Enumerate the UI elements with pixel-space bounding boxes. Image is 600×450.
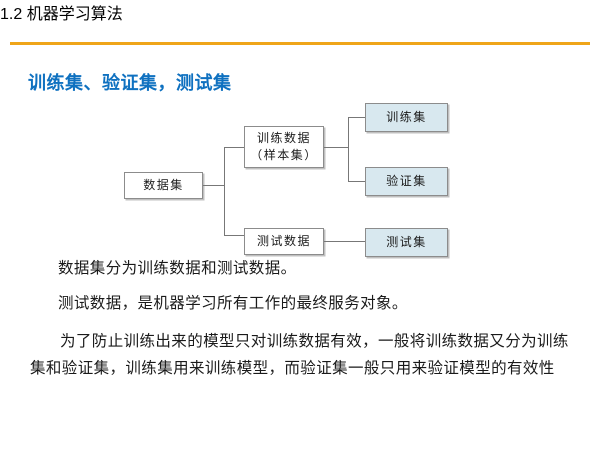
body-paragraph-3: 为了防止训练出来的模型只对训练数据有效，一般将训练数据又分为训练集和验证集，训练… <box>30 329 578 382</box>
node-test-data-label: 测试数据 <box>257 233 311 250</box>
node-test-set-label: 测试集 <box>386 234 427 251</box>
connector-test-data-to-test-set <box>324 241 365 242</box>
node-train-data-label-line2: （样本集） <box>250 147 318 164</box>
node-train-set-label: 训练集 <box>386 109 427 126</box>
connector-spine-vertical <box>224 147 225 235</box>
slide-header: 1.2 机器学习算法 <box>0 0 600 46</box>
connector-spine-to-test-data <box>224 235 244 236</box>
page-title: 1.2 机器学习算法 <box>0 0 600 24</box>
node-test-data: 测试数据 <box>244 228 324 255</box>
section-subtitle: 训练集、验证集，测试集 <box>28 69 232 95</box>
node-train-data: 训练数据 （样本集） <box>244 126 324 168</box>
connector-split-to-train-set <box>348 117 365 118</box>
dataset-split-flowchart: 数据集 训练数据 （样本集） 训练集 验证集 测试数据 测试集 <box>0 95 600 265</box>
title-underline-rule <box>10 42 590 45</box>
connector-dataset-to-spine <box>203 185 225 186</box>
connector-train-data-to-split <box>324 147 348 148</box>
node-valid-set-label: 验证集 <box>386 173 427 190</box>
node-train-data-label-line1: 训练数据 <box>257 130 311 147</box>
node-valid-set: 验证集 <box>365 167 448 196</box>
body-copy: 数据集分为训练数据和测试数据。 测试数据，是机器学习所有工作的最终服务对象。 为… <box>30 258 578 382</box>
node-dataset: 数据集 <box>124 172 203 199</box>
connector-train-split-vertical <box>348 117 349 182</box>
body-paragraph-1: 数据集分为训练数据和测试数据。 <box>30 258 578 280</box>
body-paragraph-2: 测试数据，是机器学习所有工作的最终服务对象。 <box>30 293 578 315</box>
connector-spine-to-train-data <box>224 147 244 148</box>
node-dataset-label: 数据集 <box>143 177 184 194</box>
connector-split-to-valid-set <box>348 181 365 182</box>
node-train-set: 训练集 <box>365 103 448 132</box>
node-test-set: 测试集 <box>365 228 448 257</box>
